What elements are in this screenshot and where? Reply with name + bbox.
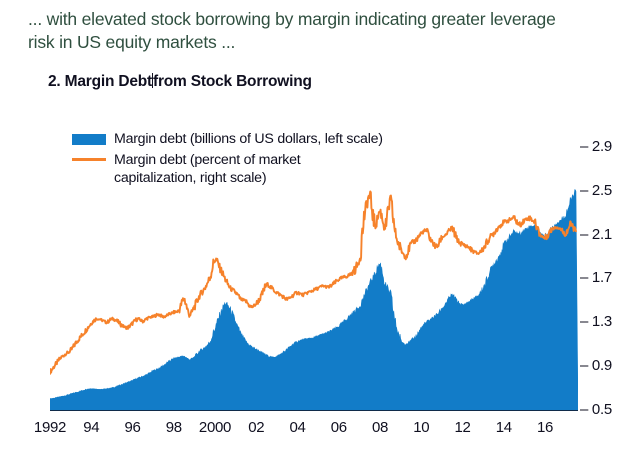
caption-line-1: ... with elevated stock borrowing by mar… — [28, 8, 622, 31]
figure-panel: ... with elevated stock borrowing by mar… — [0, 0, 640, 449]
figure-caption: ... with elevated stock borrowing by mar… — [28, 8, 622, 54]
legend-swatch-area-blue — [72, 130, 114, 148]
right-axis-tick-0.5: – 0.5 — [580, 401, 612, 418]
chart-legend: Margin debt (billions of US dollars, lef… — [72, 130, 383, 190]
x-axis-tick-98: 98 — [166, 419, 182, 436]
x-axis-tick-12: 12 — [454, 419, 470, 436]
caption-line-2: risk in US equity markets ... — [28, 31, 622, 54]
chart-title: 2. Margin Debtfrom Stock Borrowing — [48, 73, 312, 91]
x-axis-tick-96: 96 — [124, 419, 140, 436]
legend-label-billions: Margin debt (billions of US dollars, lef… — [114, 130, 383, 149]
x-axis-tick-04: 04 — [289, 419, 305, 436]
x-axis-tick-16: 16 — [537, 419, 553, 436]
chart-title-part2: from Stock Borrowing — [153, 73, 312, 90]
x-axis-tick-94: 94 — [83, 419, 99, 436]
line-swatch-icon — [72, 158, 106, 161]
x-axis-tick-02: 02 — [248, 419, 264, 436]
x-axis-tick-06: 06 — [331, 419, 347, 436]
x-axis-tick-08: 08 — [372, 419, 388, 436]
legend-entry-margin-debt-billions: Margin debt (billions of US dollars, lef… — [72, 130, 383, 149]
right-axis-tick-2.1: – 2.1 — [580, 226, 612, 243]
x-axis-tick-1992: 1992 — [34, 419, 66, 436]
legend-swatch-area-orange — [72, 151, 114, 169]
right-axis-tick-1.7: – 1.7 — [580, 269, 612, 286]
x-axis-tick-14: 14 — [496, 419, 512, 436]
area-swatch-icon — [72, 134, 106, 145]
legend-label-percent: Margin debt (percent of market capitaliz… — [114, 151, 300, 188]
right-axis-tick-2.5: – 2.5 — [580, 182, 612, 199]
right-axis-tick-2.9: – 2.9 — [580, 138, 612, 155]
right-axis-tick-0.9: – 0.9 — [580, 357, 612, 374]
legend-entry-margin-debt-percent: Margin debt (percent of market capitaliz… — [72, 151, 383, 188]
chart-title-part1: 2. Margin Debt — [48, 73, 152, 90]
x-axis-tick-10: 10 — [413, 419, 429, 436]
margin-debt-billions-area — [50, 190, 578, 411]
x-axis-tick-2000: 2000 — [199, 419, 231, 436]
right-axis-tick-1.3: – 1.3 — [580, 313, 612, 330]
